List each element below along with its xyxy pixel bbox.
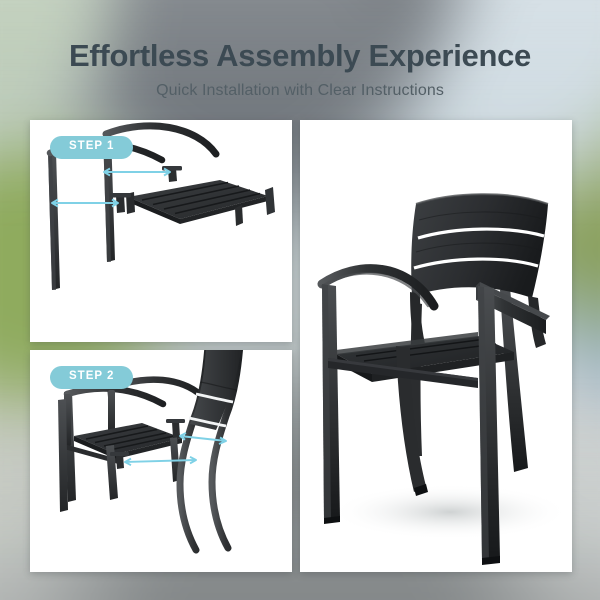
header: Effortless Assembly Experience Quick Ins…: [0, 0, 600, 100]
floor-shadow: [330, 484, 570, 540]
seat-panel: [126, 180, 275, 226]
page-title: Effortless Assembly Experience: [0, 0, 600, 73]
rear-left-leg: [48, 151, 60, 290]
step-1-panel: STEP 1: [30, 120, 292, 342]
backrest-assembly: [180, 350, 242, 550]
hero-product-panel: [300, 120, 572, 572]
finished-chair-illustration: [300, 120, 572, 572]
product-infographic: Effortless Assembly Experience Quick Ins…: [0, 0, 600, 600]
step-1-badge: STEP 1: [50, 136, 133, 159]
step-2-badge: STEP 2: [50, 366, 133, 389]
assembly-arrow-upper: [104, 169, 170, 176]
step-2-panel: STEP 2: [30, 350, 292, 572]
front-left-leg: [322, 284, 340, 524]
page-subtitle: Quick Installation with Clear Instructio…: [0, 73, 600, 100]
